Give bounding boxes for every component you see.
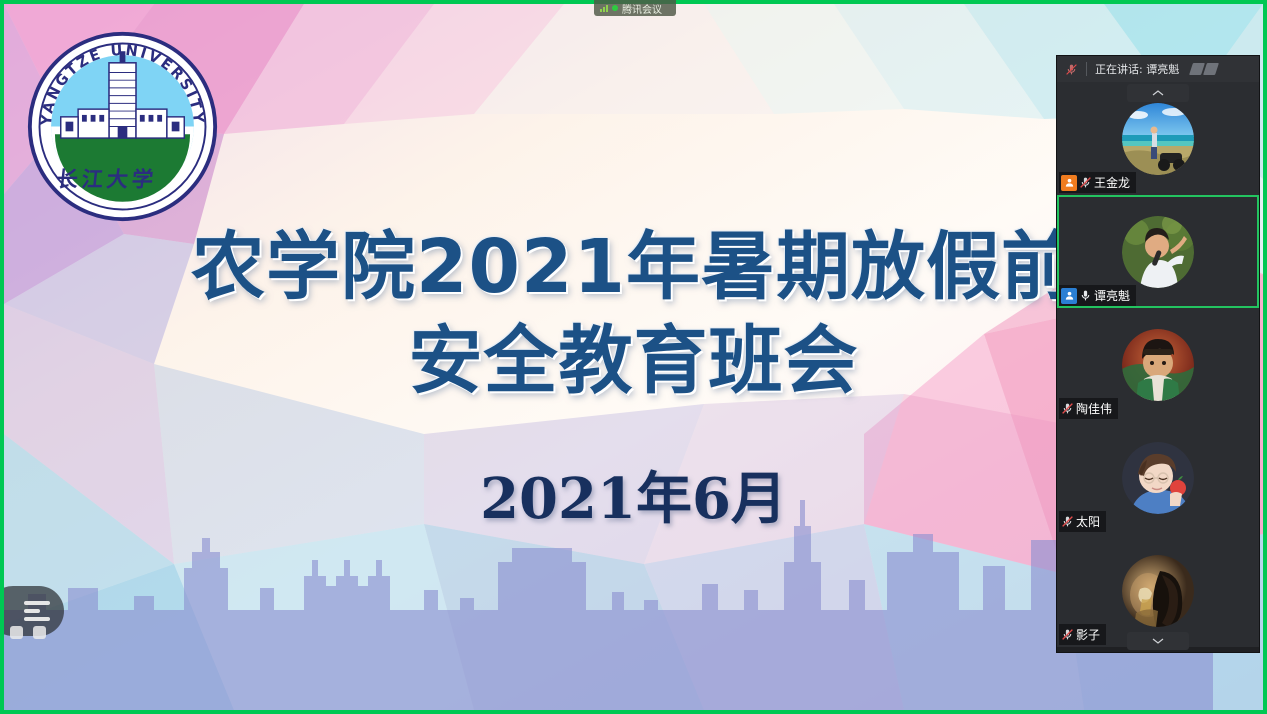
signal-bars-icon (600, 4, 608, 12)
participant-sidebar: 正在讲话: 谭亮魁 (1057, 56, 1259, 652)
user-badge-icon (1061, 288, 1077, 304)
green-status-dot-icon (612, 5, 618, 11)
avatar (1122, 555, 1194, 627)
mic-muted-icon (1065, 63, 1078, 76)
participant-name-chip: 陶佳伟 (1059, 398, 1118, 419)
menu-list-icon (24, 597, 52, 625)
host-badge-icon (1061, 175, 1077, 191)
participant-name: 王金龙 (1094, 174, 1130, 191)
participant-tile[interactable]: 影子 (1057, 534, 1259, 647)
mic-muted-icon (1061, 628, 1074, 641)
participant-name-chip: 谭亮魁 (1059, 285, 1136, 306)
taskbar-app-label: 腾讯会议 (622, 1, 662, 16)
participant-name: 影子 (1076, 626, 1100, 643)
chevron-up-icon (1152, 89, 1164, 97)
active-speaker-label: 正在讲话: 谭亮魁 (1095, 61, 1179, 77)
toolbar-dots (10, 626, 46, 639)
yangtze-university-logo: YANGTZE UNIVERSITY 长江大学 (26, 30, 219, 223)
participant-name-chip: 影子 (1059, 624, 1106, 645)
tencent-meeting-taskbar-pill[interactable]: 腾讯会议 (594, 0, 676, 16)
scroll-up-button[interactable] (1127, 84, 1189, 102)
scroll-down-button[interactable] (1127, 632, 1189, 650)
participant-tile[interactable]: 太阳 (1057, 421, 1259, 534)
mic-muted-icon (1079, 176, 1092, 189)
meeting-screen: YANGTZE UNIVERSITY 长江大学 农学院2021年暑期放假前 安全… (0, 0, 1267, 714)
participant-tiles: 王金龙 (1057, 82, 1259, 652)
avatar (1122, 442, 1194, 514)
participant-name-chip: 太阳 (1059, 511, 1106, 532)
participant-tile[interactable]: 陶佳伟 (1057, 308, 1259, 421)
participant-tile[interactable]: 谭亮魁 (1057, 195, 1259, 308)
sidebar-header: 正在讲话: 谭亮魁 (1057, 56, 1259, 82)
sound-wave-icon (1191, 63, 1217, 75)
avatar (1122, 103, 1194, 175)
avatar (1122, 216, 1194, 288)
participant-name: 陶佳伟 (1076, 400, 1112, 417)
avatar (1122, 329, 1194, 401)
participant-name: 谭亮魁 (1094, 287, 1130, 304)
mic-unmuted-icon (1079, 289, 1092, 302)
participant-name-chip: 王金龙 (1059, 172, 1136, 193)
participant-name: 太阳 (1076, 513, 1100, 530)
svg-text:长江大学: 长江大学 (55, 166, 158, 192)
mic-muted-icon (1061, 515, 1074, 528)
mic-muted-icon (1061, 402, 1074, 415)
chevron-down-icon (1152, 637, 1164, 645)
